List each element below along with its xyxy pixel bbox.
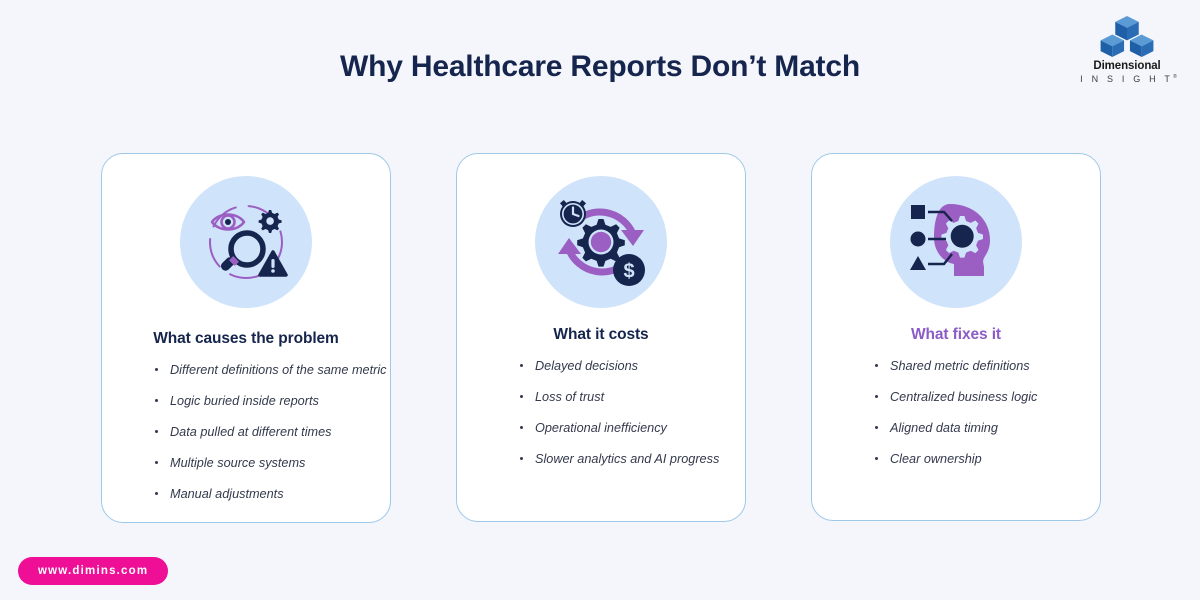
- page-title: Why Healthcare Reports Don’t Match: [0, 50, 1200, 84]
- card-title: What fixes it: [911, 326, 1001, 344]
- list-item: Operational inefficiency: [511, 420, 767, 437]
- card-title: What causes the problem: [153, 330, 338, 348]
- list-item: Centralized business logic: [866, 389, 1122, 406]
- card-bullet-list: Delayed decisions Loss of trust Operatio…: [473, 358, 767, 468]
- list-item: Different definitions of the same metric: [146, 362, 402, 379]
- list-item: Slower analytics and AI progress: [511, 451, 767, 468]
- square-shape-icon: [911, 205, 925, 219]
- magnifier-eye-gear-warning-icon: [180, 176, 312, 308]
- list-item: Data pulled at different times: [146, 424, 402, 441]
- list-item: Shared metric definitions: [866, 358, 1122, 375]
- head-gear-brain-shapes-icon: [890, 176, 1022, 308]
- site-url-badge[interactable]: www.dimins.com: [18, 557, 168, 585]
- card-what-it-costs: $ What it costs Delayed decisions Loss o…: [456, 153, 746, 522]
- list-item: Aligned data timing: [866, 420, 1122, 437]
- gear-clock-dollar-cycle-icon: $: [535, 176, 667, 308]
- card-bullet-list: Different definitions of the same metric…: [118, 362, 402, 502]
- list-item: Logic buried inside reports: [146, 393, 402, 410]
- circle-shape-icon: [911, 232, 926, 247]
- card-what-causes-the-problem: What causes the problem Different defini…: [101, 153, 391, 523]
- card-bullet-list: Shared metric definitions Centralized bu…: [828, 358, 1122, 468]
- card-title: What it costs: [553, 326, 648, 344]
- card-what-fixes-it: What fixes it Shared metric definitions …: [811, 153, 1101, 521]
- svg-text:$: $: [623, 261, 634, 283]
- list-item: Loss of trust: [511, 389, 767, 406]
- list-item: Clear ownership: [866, 451, 1122, 468]
- list-item: Manual adjustments: [146, 486, 402, 503]
- list-item: Multiple source systems: [146, 455, 402, 472]
- card-group: What causes the problem Different defini…: [101, 153, 1101, 523]
- list-item: Delayed decisions: [511, 358, 767, 375]
- triangle-shape-icon: [910, 256, 926, 270]
